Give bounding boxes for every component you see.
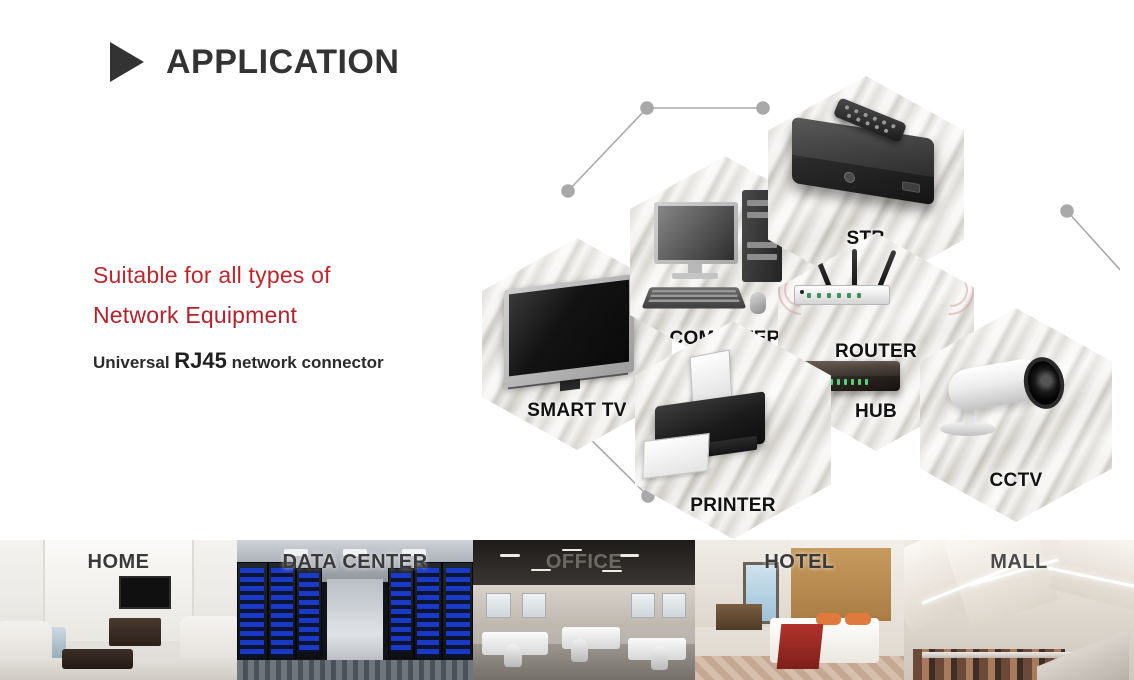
- strip-panel-home[interactable]: HOME: [0, 540, 237, 680]
- mouse-icon: [750, 292, 766, 314]
- page-title-row: APPLICATION: [110, 42, 399, 82]
- strip-panel-data-center[interactable]: DATA CENTER: [237, 540, 473, 680]
- wifi-router-icon: [794, 285, 890, 305]
- device-hex-cluster: SMART TV COMPUTER: [480, 78, 1120, 528]
- strip-panel-office[interactable]: OFFICE: [473, 540, 695, 680]
- strip-panel-hotel[interactable]: HOTEL: [695, 540, 904, 680]
- keyboard-icon: [642, 287, 747, 308]
- strip-caption-home: HOME: [0, 551, 237, 574]
- play-triangle-icon: [110, 42, 144, 82]
- copy-line-3-emphasis: RJ45: [174, 348, 227, 373]
- copy-line-3: Universal RJ45 network connector: [93, 348, 493, 374]
- environment-strip: HOME DATA CENTER: [0, 540, 1134, 680]
- strip-caption-office: OFFICE: [473, 551, 695, 574]
- copy-line-3-post: network connector: [227, 353, 384, 372]
- copy-line-3-pre: Universal: [93, 353, 174, 372]
- strip-panel-mall[interactable]: MALL: [904, 540, 1134, 680]
- monitor-icon: [654, 202, 738, 264]
- television-icon: [504, 274, 634, 388]
- strip-caption-hotel: HOTEL: [695, 551, 904, 574]
- page-title: APPLICATION: [166, 43, 399, 82]
- application-slide: APPLICATION Suitable for all types of Ne…: [0, 0, 1134, 680]
- copy-line-2: Network Equipment: [93, 302, 493, 329]
- copy-line-1: Suitable for all types of: [93, 262, 493, 289]
- monitor-base: [672, 273, 718, 279]
- marketing-copy: Suitable for all types of Network Equipm…: [93, 262, 493, 374]
- strip-caption-data-center: DATA CENTER: [237, 551, 473, 574]
- strip-caption-mall: MALL: [904, 551, 1134, 574]
